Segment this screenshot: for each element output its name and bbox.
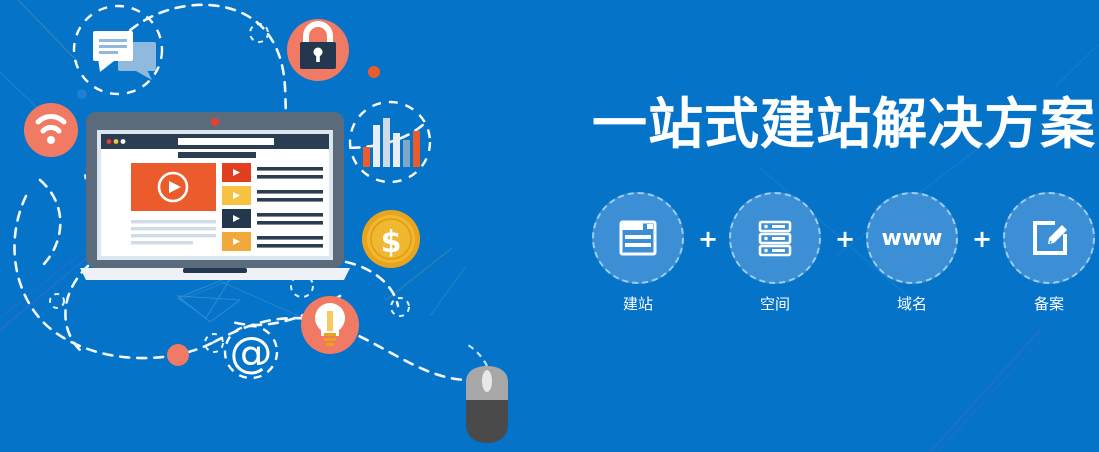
promo-banner: $ @: [0, 0, 1099, 452]
server-rack-icon-circle[interactable]: [729, 192, 821, 284]
website-page-icon-circle[interactable]: [592, 192, 684, 284]
plus-separator: +: [697, 228, 719, 250]
edit-square-pencil-icon-circle[interactable]: [1003, 192, 1095, 284]
lightbulb-icon: [301, 296, 359, 354]
laptop-device: [80, 112, 350, 280]
service-item-label: 建站: [592, 295, 684, 313]
illustration-group: $ @: [0, 0, 560, 452]
service-item-label: 空间: [729, 295, 821, 313]
at-sign-icon: @: [225, 326, 277, 378]
bar-chart-icon: [350, 102, 430, 182]
padlock-icon: [287, 19, 349, 81]
service-item-website[interactable]: 建站: [592, 192, 684, 322]
service-item-label: 域名: [866, 295, 958, 313]
plus-separator: +: [971, 228, 993, 250]
laptop-camera-dot: [211, 118, 219, 126]
svg-text:@: @: [230, 328, 273, 378]
service-item-domain[interactable]: www 域名: [866, 192, 958, 322]
computer-mouse-icon: [466, 344, 508, 443]
www-text-icon: www: [882, 226, 943, 251]
dollar-coin-icon: $: [362, 210, 420, 268]
chat-bubbles-icon: [74, 6, 162, 94]
service-item-filing[interactable]: 备案: [1003, 192, 1095, 322]
service-item-hosting[interactable]: 空间: [729, 192, 821, 322]
wifi-icon: [24, 103, 78, 157]
service-item-label: 备案: [1003, 295, 1095, 313]
www-text-icon-circle[interactable]: www: [866, 192, 958, 284]
edit-square-pencil-icon: [1027, 216, 1071, 260]
svg-text:$: $: [381, 225, 402, 260]
page-title: 一站式建站解决方案: [592, 93, 1099, 155]
website-page-icon: [616, 216, 660, 260]
plus-separator: +: [834, 228, 856, 250]
server-rack-icon: [753, 216, 797, 260]
service-icon-row: 建站 + 空间 +: [592, 192, 1092, 322]
